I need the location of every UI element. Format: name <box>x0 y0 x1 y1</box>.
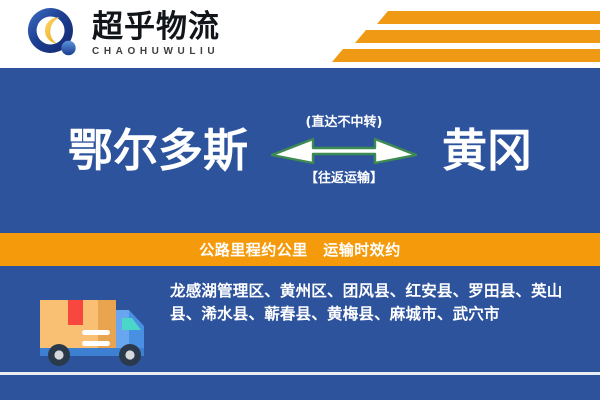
decorative-stripes <box>330 0 600 66</box>
brand-text-block: 超乎物流 CHAOHUWULIU <box>92 11 220 58</box>
route-banner: 鄂尔多斯 (直达不中转) 【往返运输】 黄冈 <box>0 68 600 233</box>
delivery-truck-icon <box>26 278 161 373</box>
crescent-circle-logo-icon <box>26 6 82 62</box>
destination-city-label: 黄冈 <box>442 128 532 173</box>
distance-duration-text: 公路里程约公里 运输时效约 <box>199 239 401 260</box>
brand-lockup: 超乎物流 CHAOHUWULIU <box>26 6 220 62</box>
bidirectional-arrow-icon <box>269 133 419 167</box>
arrow-caption-top: (直达不中转) <box>306 116 383 129</box>
route-row: 鄂尔多斯 (直达不中转) 【往返运输】 黄冈 <box>0 68 600 233</box>
header-bar: 超乎物流 CHAOHUWULIU <box>0 0 600 68</box>
stripe-3 <box>332 49 600 62</box>
arrow-caption-bottom: 【往返运输】 <box>305 172 383 185</box>
stripe-2 <box>355 30 600 43</box>
brand-name-cn: 超乎物流 <box>92 11 220 44</box>
brand-name-en: CHAOHUWULIU <box>92 46 220 57</box>
route-arrow-block: (直达不中转) 【往返运输】 <box>260 103 428 199</box>
distance-duration-bar: 公路里程约公里 运输时效约 <box>0 233 600 266</box>
origin-city-label: 鄂尔多斯 <box>68 128 248 173</box>
logistics-route-poster: 超乎物流 CHAOHUWULIU 鄂尔多斯 (直达不中转) 【往返运输】 黄冈 <box>0 0 600 400</box>
coverage-panel: 龙感湖管理区、黄州区、团风县、红安县、罗田县、英山县、浠水县、蕲春县、黄梅县、麻… <box>0 266 600 400</box>
stripe-1 <box>377 11 600 24</box>
bottom-divider <box>0 372 600 375</box>
coverage-areas-text: 龙感湖管理区、黄州区、团风县、红安县、罗田县、英山县、浠水县、蕲春县、黄梅县、麻… <box>170 280 580 326</box>
